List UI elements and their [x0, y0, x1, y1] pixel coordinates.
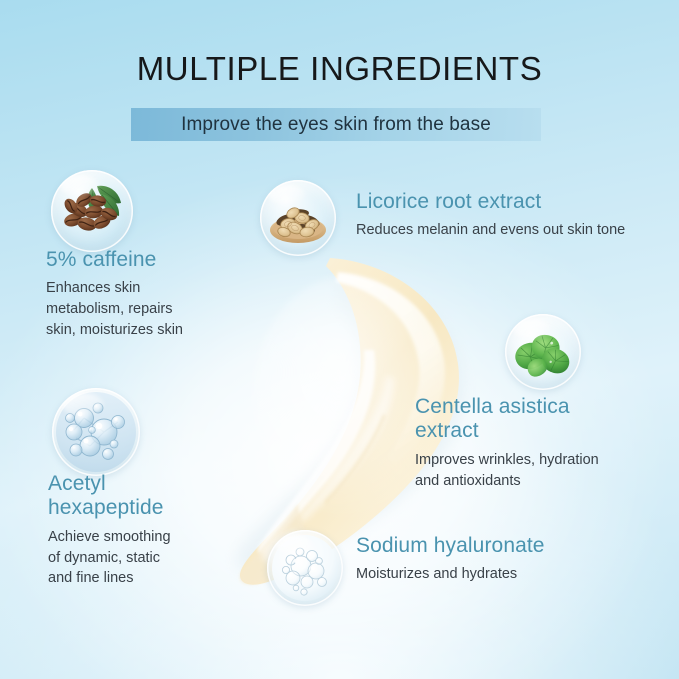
ingredient-description-licorice: Reduces melanin and evens out skin tone [356, 220, 661, 241]
ingredient-caffeine: 5% caffeine Enhances skin metabolism, re… [46, 248, 251, 341]
dish-contents [267, 530, 343, 606]
licorice-root-slices-dish-icon [260, 180, 336, 256]
ingredient-description-acetyl-hexapeptide: Achieve smoothing of dynamic, static and… [48, 527, 233, 590]
green-leaves-dish-icon [505, 314, 581, 390]
dish-contents [51, 170, 133, 252]
ingredient-name-centella: Centella asistica extract [415, 395, 640, 444]
ingredient-licorice: Licorice root extract Reduces melanin an… [356, 190, 661, 241]
ingredient-description-caffeine: Enhances skin metabolism, repairs skin, … [46, 278, 251, 341]
ingredient-name-licorice: Licorice root extract [356, 190, 661, 214]
coffee-beans-dish-icon [51, 170, 133, 252]
dish-contents [260, 180, 336, 256]
ingredient-sodium-hyaluronate: Sodium hyaluronate Moisturizes and hydra… [356, 534, 646, 585]
ingredient-description-centella: Improves wrinkles, hydration and antioxi… [415, 450, 640, 492]
ingredient-description-sodium-hyaluronate: Moisturizes and hydrates [356, 564, 646, 585]
ingredients-poster: MULTIPLE INGREDIENTS Improve the eyes sk… [0, 0, 679, 679]
blue-bubbles-dish-icon [52, 388, 140, 476]
ingredient-acetyl-hexapeptide: Acetyl hexapeptide Achieve smoothing of … [48, 472, 233, 589]
subtitle-text: Improve the eyes skin from the base [181, 114, 491, 136]
ingredient-name-caffeine: 5% caffeine [46, 248, 251, 272]
page-title: MULTIPLE INGREDIENTS [0, 50, 679, 88]
subtitle-banner: Improve the eyes skin from the base [131, 108, 541, 141]
ingredient-centella: Centella asistica extract Improves wrink… [415, 395, 640, 491]
clear-gel-bubbles-dish-icon [267, 530, 343, 606]
dish-contents [505, 314, 581, 390]
ingredient-name-sodium-hyaluronate: Sodium hyaluronate [356, 534, 646, 558]
ingredient-name-acetyl-hexapeptide: Acetyl hexapeptide [48, 472, 233, 521]
dish-contents [52, 388, 140, 476]
